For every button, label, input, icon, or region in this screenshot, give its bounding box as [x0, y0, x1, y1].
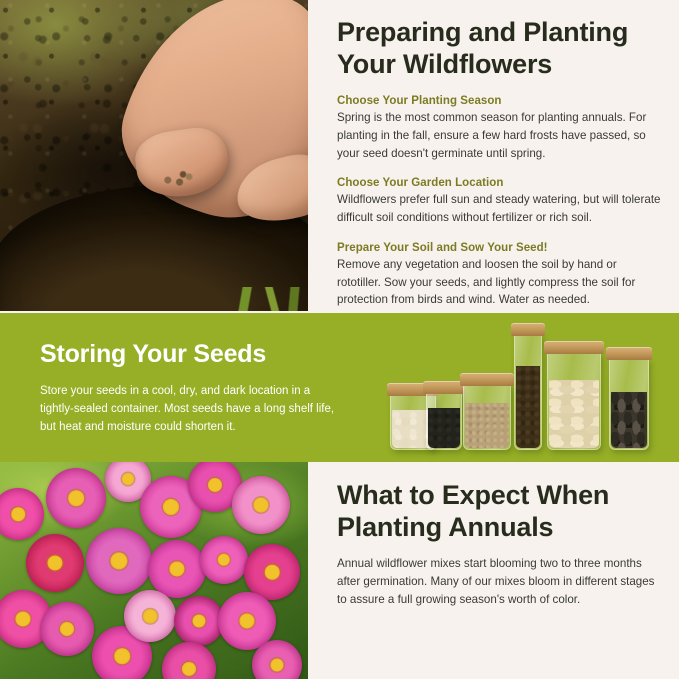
zinnia-bloom [148, 540, 206, 598]
jar-contents-tan-seeds [465, 403, 509, 448]
cork-lid-icon [606, 347, 652, 360]
jar-dark-brown-seeds [514, 334, 542, 450]
zinnia-bloom [86, 528, 152, 594]
zinnia-bloom [46, 468, 106, 528]
cork-lid-icon [511, 323, 545, 336]
jar-pumpkin-seeds [547, 352, 601, 450]
storing-text-column: Storing Your Seeds Store your seeds in a… [40, 339, 340, 437]
photo-hands-sowing-seeds [0, 0, 308, 311]
photo-seed-jars [390, 320, 670, 456]
zinnia-bloom [232, 476, 290, 534]
jar-sunflower-seeds [609, 358, 649, 450]
storing-heading: Storing Your Seeds [40, 339, 340, 369]
expect-text-column: What to Expect When Planting Annuals Ann… [337, 479, 662, 608]
zinnia-bloom [40, 602, 94, 656]
jar-contents-pumpkin-seeds [549, 380, 599, 448]
subheading-planting-season: Choose Your Planting Season [337, 95, 662, 107]
subheading-garden-location: Choose Your Garden Location [337, 177, 662, 189]
zinnia-bloom [200, 536, 248, 584]
jar-contents-dark-brown-seeds [516, 366, 540, 448]
jar-contents-black-seeds [428, 408, 460, 448]
jar-contents-sunflower-seeds [611, 392, 647, 448]
section-preparing-and-planting: Preparing and Planting Your Wildflowers … [0, 0, 679, 313]
cork-lid-icon [423, 381, 465, 394]
expect-heading: What to Expect When Planting Annuals [337, 479, 662, 543]
cork-lid-icon [544, 341, 604, 354]
jar-tan-seeds [463, 384, 511, 450]
zinnia-bloom [26, 534, 84, 592]
subheading-prepare-soil: Prepare Your Soil and Sow Your Seed! [337, 242, 662, 254]
jar-black-seeds [426, 392, 462, 450]
grass-blades [180, 287, 308, 311]
body-planting-season: Spring is the most common season for pla… [337, 109, 662, 162]
expect-body: Annual wildflower mixes start blooming t… [337, 555, 662, 608]
photo-pink-zinnias [0, 462, 308, 679]
preparing-text-column: Preparing and Planting Your Wildflowers … [337, 16, 662, 309]
zinnia-bloom [124, 590, 176, 642]
section-what-to-expect: What to Expect When Planting Annuals Ann… [0, 462, 679, 679]
infographic-page: Preparing and Planting Your Wildflowers … [0, 0, 679, 679]
cork-lid-icon [460, 373, 514, 386]
block-prepare-soil: Prepare Your Soil and Sow Your Seed! Rem… [337, 242, 662, 309]
block-garden-location: Choose Your Garden Location Wildflowers … [337, 177, 662, 226]
zinnia-bloom [174, 596, 224, 646]
section-storing-your-seeds: Storing Your Seeds Store your seeds in a… [0, 313, 679, 462]
block-planting-season: Choose Your Planting Season Spring is th… [337, 95, 662, 162]
storing-body: Store your seeds in a cool, dry, and dar… [40, 383, 340, 437]
preparing-heading: Preparing and Planting Your Wildflowers [337, 16, 662, 80]
body-prepare-soil: Remove any vegetation and loosen the soi… [337, 256, 662, 309]
body-garden-location: Wildflowers prefer full sun and steady w… [337, 191, 662, 226]
